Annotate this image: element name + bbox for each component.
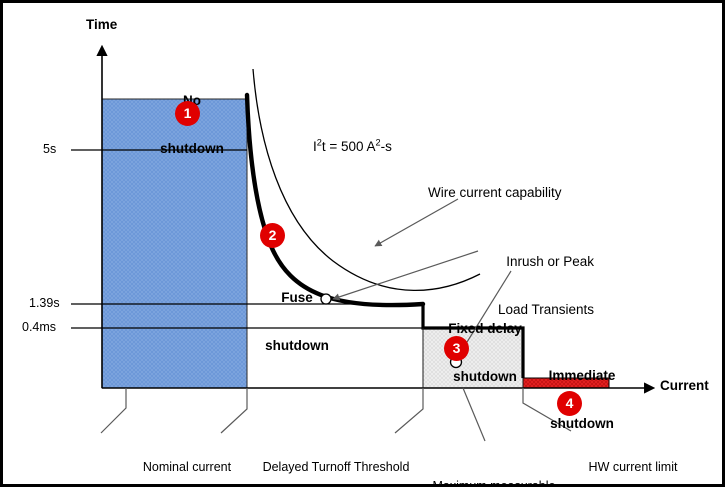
bottom-label-hw-line1: HW current limit	[563, 460, 703, 475]
zone-label-no-shutdown-line2: shutdown	[139, 141, 245, 157]
zone-marker-3: 3	[444, 336, 469, 361]
leader-delayed-turnoff	[221, 388, 247, 433]
leader-iswcl-threshold	[395, 388, 423, 433]
zone-marker-1: 1	[175, 101, 200, 126]
bottom-label-nominal-current: Nominal current INOM_CHx 10A	[119, 430, 255, 487]
zone-label-fuse-shutdown: Fuse shutdown	[249, 258, 345, 385]
bottom-label-delayed-turnoff: Delayed Turnoff Threshold ISWCL_CHx[1:0]…	[246, 430, 426, 487]
zone-label-fixed-delay-line2: shutdown	[427, 369, 543, 385]
wire-capability-label: Wire current capability	[428, 185, 562, 201]
leader-nominal-current	[101, 388, 126, 433]
inrush-transients-label: Inrush or Peak Load Transients	[482, 222, 594, 349]
y-tick-5s: 5s	[43, 142, 56, 157]
bottom-label-max-measurable: Maximum measurable current	[414, 449, 574, 487]
diagram-frame: Time Current 5s 1.39s 0.4ms No shutdown …	[0, 0, 725, 487]
zone-marker-2: 2	[260, 223, 285, 248]
bottom-label-hw-current-limit: HW current limit ILIMIT_SET_CHx 40A	[563, 430, 703, 487]
x-axis-title: Current	[660, 378, 709, 394]
bottom-label-delayed-line1: Delayed Turnoff Threshold	[246, 460, 426, 475]
leader-wire-capability	[375, 199, 458, 246]
zone-label-fuse-shutdown-line1: Fuse	[249, 290, 345, 306]
inrush-transients-line1: Inrush or Peak	[482, 254, 594, 270]
zone-marker-4: 4	[557, 391, 582, 416]
y-tick-0p4ms: 0.4ms	[22, 320, 56, 335]
bottom-label-nominal-line1: Nominal current	[119, 460, 255, 475]
zone-label-fuse-shutdown-line2: shutdown	[249, 338, 345, 354]
zone-label-immediate-line1: Immediate	[527, 368, 637, 384]
i2t-mid: t = 500 A	[322, 139, 376, 154]
y-axis-title: Time	[86, 17, 117, 33]
inrush-transients-line2: Load Transients	[482, 302, 594, 318]
y-tick-1p39s: 1.39s	[29, 296, 60, 311]
i2t-post: -s	[381, 139, 392, 154]
i2t-formula-label: I2t = 500 A2-s	[313, 139, 392, 155]
bottom-label-max-line1: Maximum measurable	[414, 479, 574, 487]
